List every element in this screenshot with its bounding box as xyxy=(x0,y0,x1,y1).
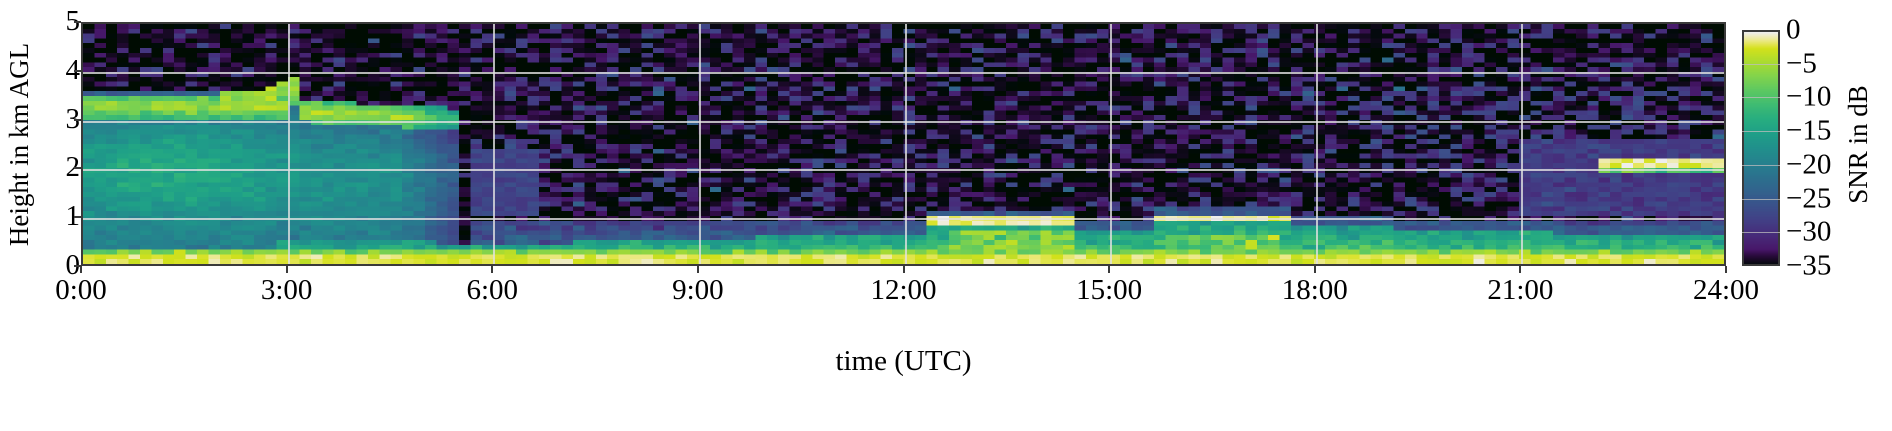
colorbar-tick-line xyxy=(1742,64,1780,65)
colorbar-canvas xyxy=(1744,32,1778,264)
colorbar-tick-line xyxy=(1742,97,1780,98)
colorbar-label-text: SNR in dB xyxy=(1843,85,1874,204)
x-tick-label: 3:00 xyxy=(261,276,313,305)
gridline-vertical xyxy=(1316,24,1318,264)
x-tick-mark xyxy=(1108,266,1110,273)
y-tick-mark xyxy=(74,167,81,169)
colorbar-label: SNR in dB xyxy=(1838,22,1878,266)
colorbar-tick-label: −30 xyxy=(1786,218,1831,247)
x-tick-label: 12:00 xyxy=(870,276,936,305)
heatmap-plot-area xyxy=(81,22,1726,266)
gridline-horizontal xyxy=(83,72,1724,74)
colorbar-tick-label: −20 xyxy=(1786,150,1831,179)
x-tick-label: 24:00 xyxy=(1693,276,1759,305)
gridline-horizontal xyxy=(83,169,1724,171)
x-tick-label: 0:00 xyxy=(55,276,107,305)
colorbar-tick-line xyxy=(1742,199,1780,200)
gridline-vertical xyxy=(699,24,701,264)
gridline-vertical xyxy=(905,24,907,264)
x-tick-label: 15:00 xyxy=(1076,276,1142,305)
x-tick-mark xyxy=(903,266,905,273)
colorbar-tick-label: −25 xyxy=(1786,184,1831,213)
x-tick-mark xyxy=(697,266,699,273)
gridline-vertical xyxy=(1521,24,1523,264)
colorbar-tick-line xyxy=(1742,165,1780,166)
x-tick-label: 6:00 xyxy=(466,276,518,305)
colorbar-tick-label: 0 xyxy=(1786,16,1801,45)
x-tick-mark xyxy=(1725,266,1727,273)
gridline-vertical xyxy=(288,24,290,264)
colorbar-tick-line xyxy=(1742,232,1780,233)
y-axis-label-text: Height in km AGL xyxy=(5,42,36,245)
colorbar-tick-label: −10 xyxy=(1786,83,1831,112)
gridline-horizontal xyxy=(83,121,1724,123)
x-tick-label: 9:00 xyxy=(672,276,724,305)
heatmap-canvas xyxy=(83,24,1724,264)
gridline-horizontal xyxy=(83,218,1724,220)
x-tick-mark xyxy=(286,266,288,273)
y-tick-mark xyxy=(74,70,81,72)
chart-figure: Height in km AGL 012345 0:003:006:009:00… xyxy=(0,0,1892,431)
y-tick-mark xyxy=(74,119,81,121)
x-axis-label: time (UTC) xyxy=(81,345,1726,378)
x-axis-label-text: time (UTC) xyxy=(835,345,971,377)
x-tick-label: 21:00 xyxy=(1487,276,1553,305)
colorbar-tick-label: −15 xyxy=(1786,117,1831,146)
y-tick-mark xyxy=(74,216,81,218)
gridline-vertical xyxy=(1110,24,1112,264)
y-axis-label: Height in km AGL xyxy=(2,22,38,266)
x-tick-label: 18:00 xyxy=(1282,276,1348,305)
colorbar-tick-label: −35 xyxy=(1786,252,1831,281)
x-tick-mark xyxy=(80,266,82,273)
colorbar-tick-label: −5 xyxy=(1786,49,1817,78)
colorbar xyxy=(1742,30,1780,266)
gridline-vertical xyxy=(493,24,495,264)
x-tick-mark xyxy=(1519,266,1521,273)
x-tick-mark xyxy=(491,266,493,273)
x-tick-mark xyxy=(1314,266,1316,273)
colorbar-tick-line xyxy=(1742,131,1780,132)
y-tick-mark xyxy=(74,21,81,23)
